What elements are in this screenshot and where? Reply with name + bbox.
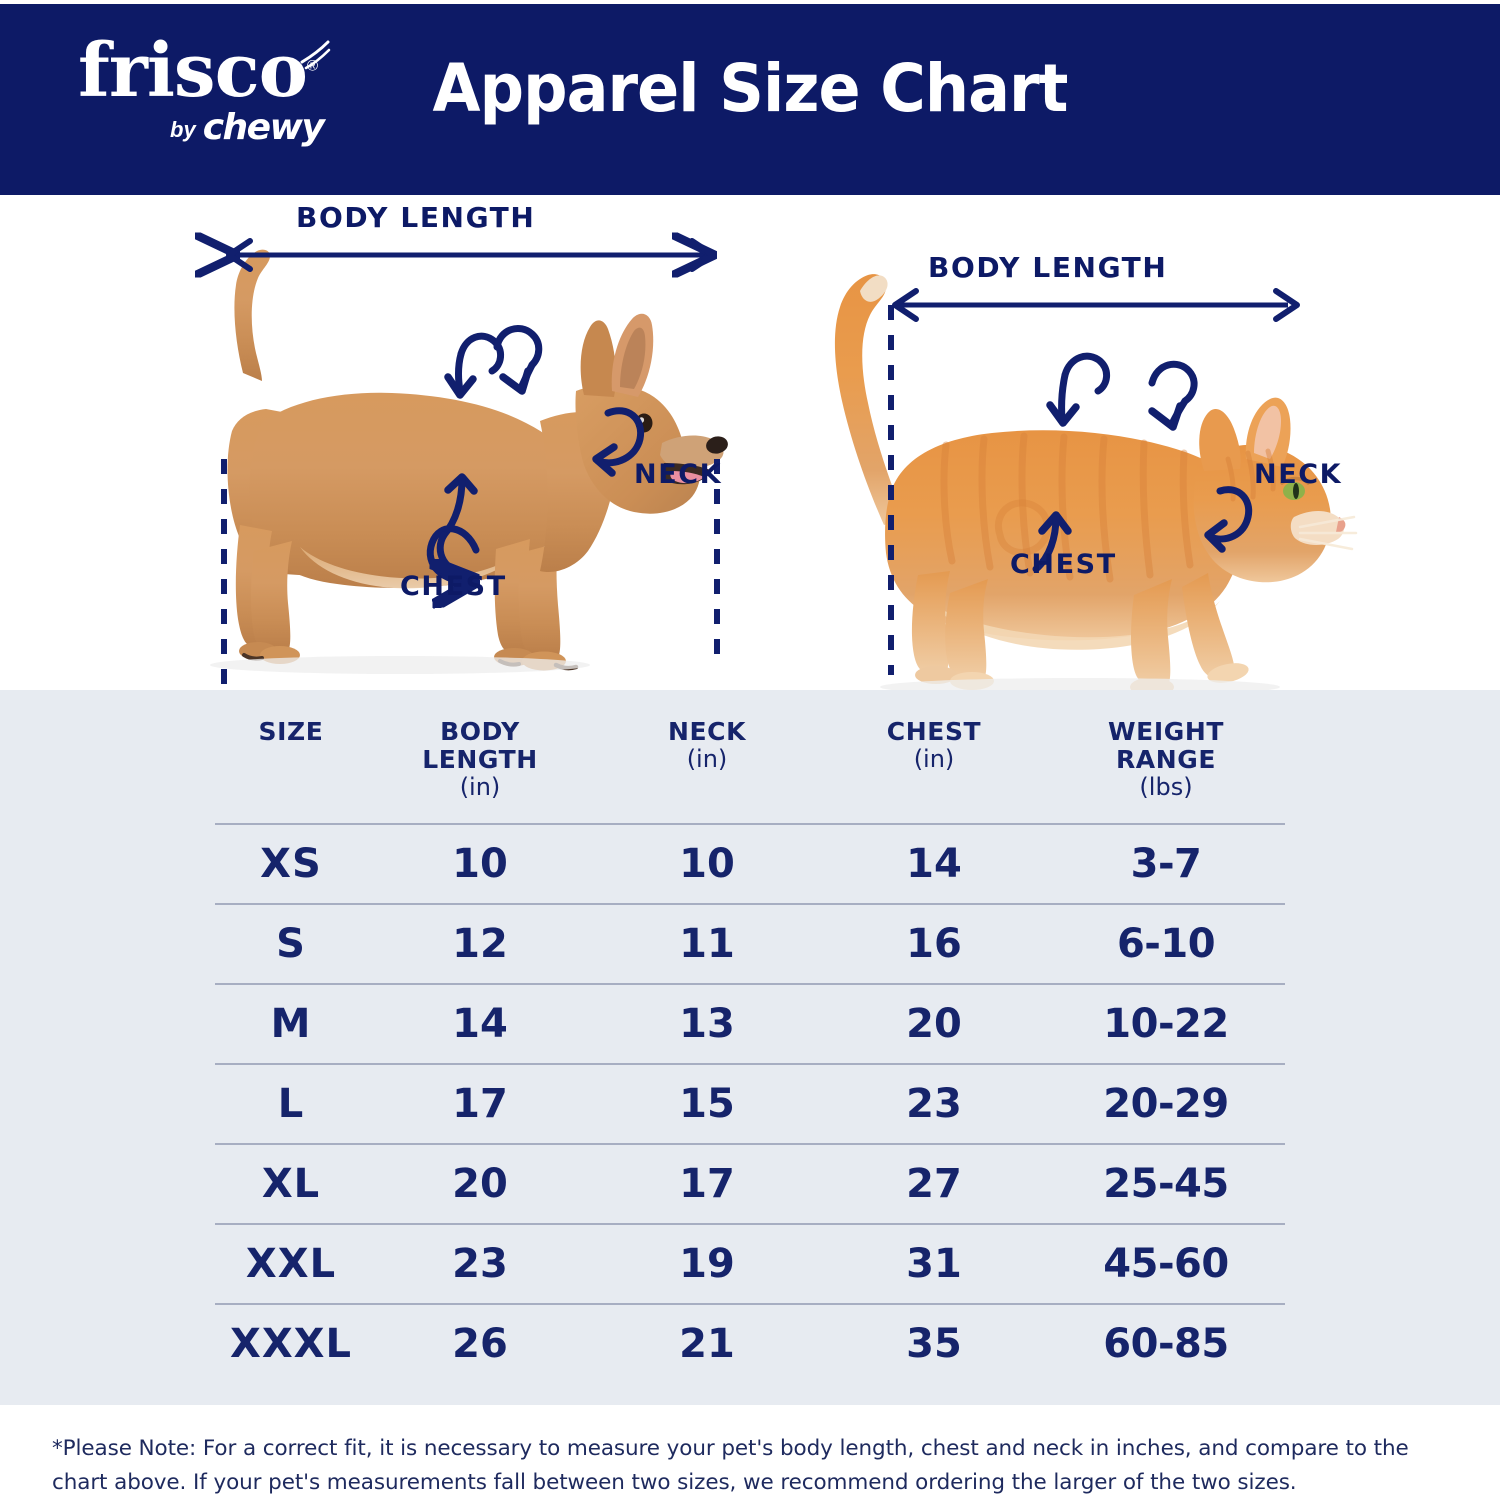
cell-size: XXXL (215, 1304, 367, 1384)
cat-withers-stem-left (1062, 375, 1065, 419)
cat-rear-leg-near (945, 579, 988, 679)
cell-body-length: 10 (367, 824, 593, 904)
cell-neck: 15 (593, 1064, 821, 1144)
cell-body-length: 17 (367, 1064, 593, 1144)
dog-diagram: BODY LENGTH CHEST NECK (210, 201, 730, 690)
col-header-neck: NECK (in) (593, 718, 821, 824)
cell-size: M (215, 984, 367, 1064)
cell-chest: 35 (821, 1304, 1047, 1384)
cell-chest: 27 (821, 1144, 1047, 1224)
cell-body-length: 26 (367, 1304, 593, 1384)
cell-weight: 25-45 (1047, 1144, 1285, 1224)
pet-measurement-diagrams: BODY LENGTH CHEST NECK (0, 195, 1500, 690)
cell-weight: 60-85 (1047, 1304, 1285, 1384)
dog-rear-leg-near (251, 541, 292, 651)
cell-chest: 20 (821, 984, 1047, 1064)
table-row: XXXL 26 21 35 60-85 (215, 1304, 1285, 1384)
cat-rear-leg-far (912, 571, 950, 673)
cell-weight: 3-7 (1047, 824, 1285, 904)
dog-ear-far (581, 320, 616, 397)
cell-neck: 17 (593, 1144, 821, 1224)
cell-size: XXL (215, 1224, 367, 1304)
cat-muzzle (1291, 511, 1344, 545)
dog-neck-label: NECK (634, 459, 722, 490)
cat-front-leg-near (1182, 573, 1234, 678)
dog-chest-label: CHEST (400, 571, 507, 602)
cell-neck: 21 (593, 1304, 821, 1384)
cell-neck: 11 (593, 904, 821, 984)
col-header-size: SIZE (215, 718, 367, 824)
cat-chest-label: CHEST (1010, 549, 1117, 580)
dog-withers-head-right (503, 371, 528, 391)
table-row: L 17 15 23 20-29 (215, 1064, 1285, 1144)
size-table-section: SIZE BODY LENGTH (in) NECK (in) CHEST (i… (0, 690, 1500, 1405)
cell-body-length: 14 (367, 984, 593, 1064)
cell-body-length: 12 (367, 904, 593, 984)
cat-body-length-label: BODY LENGTH (928, 251, 1167, 284)
unit-in-body: (in) (367, 774, 593, 801)
table-row: XL 20 17 27 25-45 (215, 1144, 1285, 1224)
page-header: frisco® by chewy Apparel Size Chart (0, 4, 1500, 195)
illustration-area: BODY LENGTH CHEST NECK (0, 195, 1500, 690)
cat-diagram: BODY LENGTH CHEST NECK (835, 251, 1356, 690)
cell-chest: 14 (821, 824, 1047, 904)
col-header-chest: CHEST (in) (821, 718, 1047, 824)
cell-size: XS (215, 824, 367, 904)
cell-weight: 20-29 (1047, 1064, 1285, 1144)
table-row: S 12 11 16 6-10 (215, 904, 1285, 984)
dog-body-length-label: BODY LENGTH (296, 201, 535, 234)
unit-in-chest: (in) (821, 746, 1047, 773)
cell-neck: 19 (593, 1224, 821, 1304)
cell-weight: 45-60 (1047, 1224, 1285, 1304)
unit-lbs-weight: (lbs) (1047, 774, 1285, 801)
dog-shadow (210, 656, 590, 674)
table-row: XS 10 10 14 3-7 (215, 824, 1285, 904)
cell-chest: 16 (821, 904, 1047, 984)
cell-size: XL (215, 1144, 367, 1224)
cell-body-length: 23 (367, 1224, 593, 1304)
cat-withers-head-right (1152, 406, 1180, 427)
footnote-text: *Please Note: For a correct fit, it is n… (52, 1432, 1452, 1500)
size-chart-page: frisco® by chewy Apparel Size Chart (0, 0, 1500, 1500)
cell-size: L (215, 1064, 367, 1144)
unit-in-neck: (in) (593, 746, 821, 773)
table-row: XXL 23 19 31 45-60 (215, 1224, 1285, 1304)
cell-chest: 23 (821, 1064, 1047, 1144)
cell-neck: 10 (593, 824, 821, 904)
table-header-row: SIZE BODY LENGTH (in) NECK (in) CHEST (i… (215, 718, 1285, 824)
table-body: XS 10 10 14 3-7 S 12 11 16 6-10 M 14 13 (215, 824, 1285, 1384)
table-row: M 14 13 20 10-22 (215, 984, 1285, 1064)
col-header-weight-range: WEIGHT RANGE (lbs) (1047, 718, 1285, 824)
size-table: SIZE BODY LENGTH (in) NECK (in) CHEST (i… (215, 718, 1285, 1384)
dog-withers-curl-left (461, 336, 501, 371)
cat-neck-label: NECK (1254, 459, 1342, 490)
page-title: Apparel Size Chart (45, 50, 1455, 127)
cell-size: S (215, 904, 367, 984)
dog-withers-stem-left (459, 354, 461, 391)
cell-chest: 31 (821, 1224, 1047, 1304)
cat-withers-curl-right (1152, 364, 1194, 401)
col-header-body-length: BODY LENGTH (in) (367, 718, 593, 824)
cell-weight: 6-10 (1047, 904, 1285, 984)
cat-ear-far (1199, 409, 1241, 471)
cell-neck: 13 (593, 984, 821, 1064)
cat-withers-curl-left (1065, 356, 1107, 391)
cell-body-length: 20 (367, 1144, 593, 1224)
cell-weight: 10-22 (1047, 984, 1285, 1064)
cat-front-leg-far (1131, 579, 1172, 685)
